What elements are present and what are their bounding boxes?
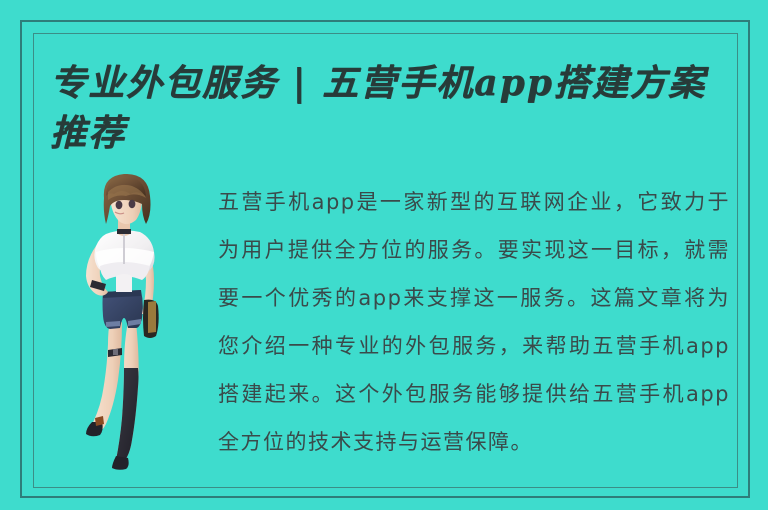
character-illustration-svg: [62, 172, 190, 472]
thigh-high-sock: [116, 368, 139, 462]
choker: [117, 229, 131, 234]
top-hem: [116, 274, 132, 292]
page-title: 专业外包服务 | 五营手机app搭建方案推荐: [50, 58, 715, 158]
character-illustration: [62, 172, 190, 472]
eye-left: [116, 201, 123, 209]
article-card: 专业外包服务 | 五营手机app搭建方案推荐: [0, 0, 768, 510]
handbag-panel: [148, 301, 156, 333]
leg-left: [90, 322, 122, 434]
boot-right: [112, 456, 129, 470]
shorts-cuff-left: [106, 321, 120, 327]
eye-right: [129, 200, 136, 208]
garter-buckle: [113, 349, 118, 355]
article-body: 五营手机app是一家新型的互联网企业，它致力于为用户提供全方位的服务。要实现这一…: [218, 178, 730, 470]
necklace-chain: [123, 234, 125, 264]
